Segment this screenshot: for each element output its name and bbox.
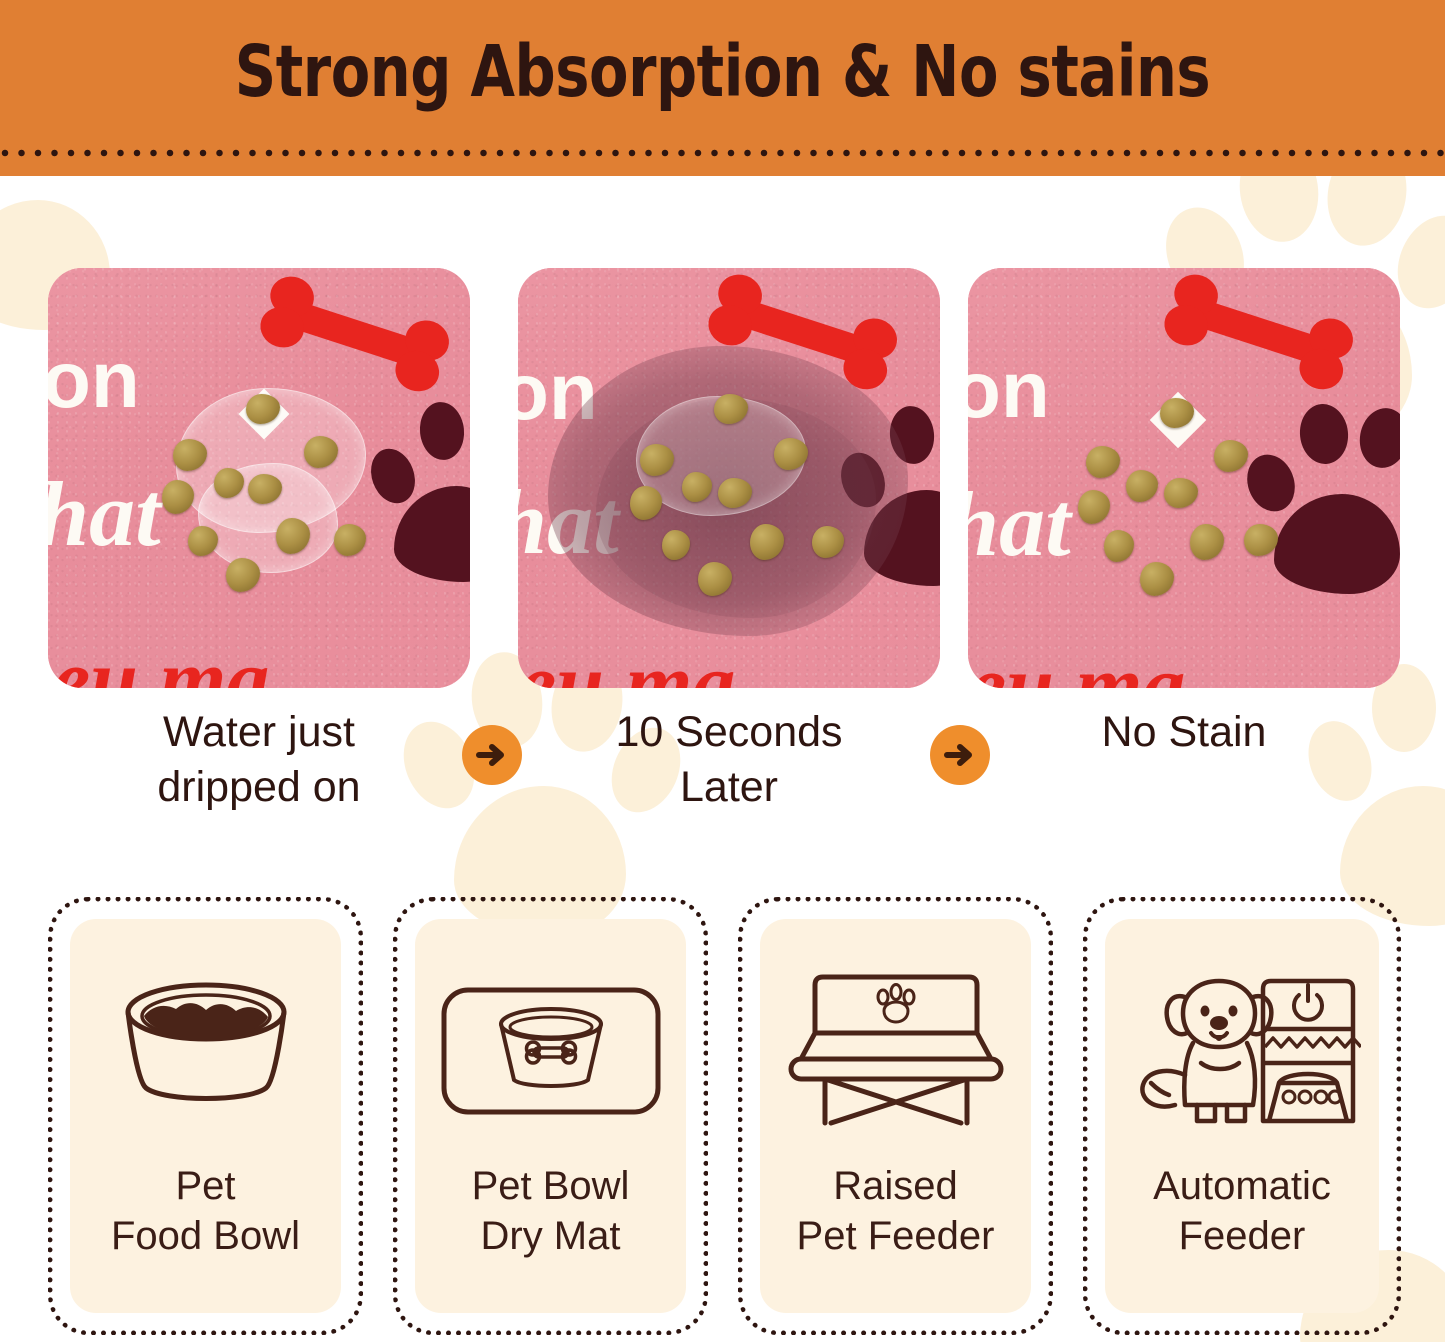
use-case-card-raised-pet-feeder[interactable]: Raised Pet Feeder [738,897,1053,1335]
label-line: Dry Mat [472,1211,630,1261]
caption-line: dripped on [48,760,470,815]
demo-photo-water-dripped: on hat eu ma [48,268,470,688]
mat-print-word-red: eu ma [52,636,269,688]
label-line: Pet [111,1161,300,1211]
pet-bowl-dry-mat-icon [438,955,664,1147]
use-case-label-pet-bowl-dry-mat: Pet Bowl Dry Mat [468,1161,634,1261]
header-banner: Strong Absorption & No stains [0,0,1445,176]
use-case-label-raised-pet-feeder: Raised Pet Feeder [793,1161,999,1261]
automatic-feeder-icon [1123,955,1361,1147]
caption-water-dripped: Water just dripped on [48,705,470,815]
pet-food-bowl-icon [106,955,306,1147]
mat-paw-print [368,396,470,576]
mat-print-word-on: on [48,340,140,420]
label-line: Pet Bowl [472,1161,630,1211]
caption-no-stain: No Stain [968,705,1400,760]
demo-photo-ten-seconds-later: on hat eu ma [518,268,940,688]
label-line: Feeder [1153,1211,1331,1261]
mat-print-word-on: on [968,350,1050,430]
dotted-divider [0,148,1445,158]
caption-line: 10 Seconds [518,705,940,760]
use-case-label-pet-food-bowl: Pet Food Bowl [107,1161,304,1261]
use-case-label-automatic-feeder: Automatic Feeder [1149,1161,1335,1261]
mat-print-word-hat: hat [48,468,161,560]
label-line: Food Bowl [111,1211,300,1261]
label-line: Raised [797,1161,995,1211]
label-line: Pet Feeder [797,1211,995,1261]
caption-line: Later [518,760,940,815]
label-line: Automatic [1153,1161,1331,1211]
caption-line: No Stain [968,705,1400,760]
use-case-card-pet-food-bowl[interactable]: Pet Food Bowl [48,897,363,1335]
raised-pet-feeder-icon [785,955,1007,1147]
mat-paw-print [1244,398,1400,588]
demo-photo-no-stain: on hat eu ma [968,268,1400,688]
absorption-demo-photos: on hat eu ma [0,268,1445,688]
use-case-card-pet-bowl-dry-mat[interactable]: Pet Bowl Dry Mat [393,897,708,1335]
mat-print-word-red: eu ma [518,640,735,688]
demo-captions: Water just dripped on 10 Seconds Later N… [0,705,1445,835]
caption-line: Water just [48,705,470,760]
use-case-cards: Pet Food Bowl [0,897,1445,1335]
mat-print-word-hat: hat [968,478,1071,570]
use-case-card-automatic-feeder[interactable]: Automatic Feeder [1083,897,1401,1335]
mat-print-word-red: eu ma [968,642,1185,688]
page-title: Strong Absorption & No stains [72,36,1373,107]
caption-ten-seconds-later: 10 Seconds Later [518,705,940,815]
